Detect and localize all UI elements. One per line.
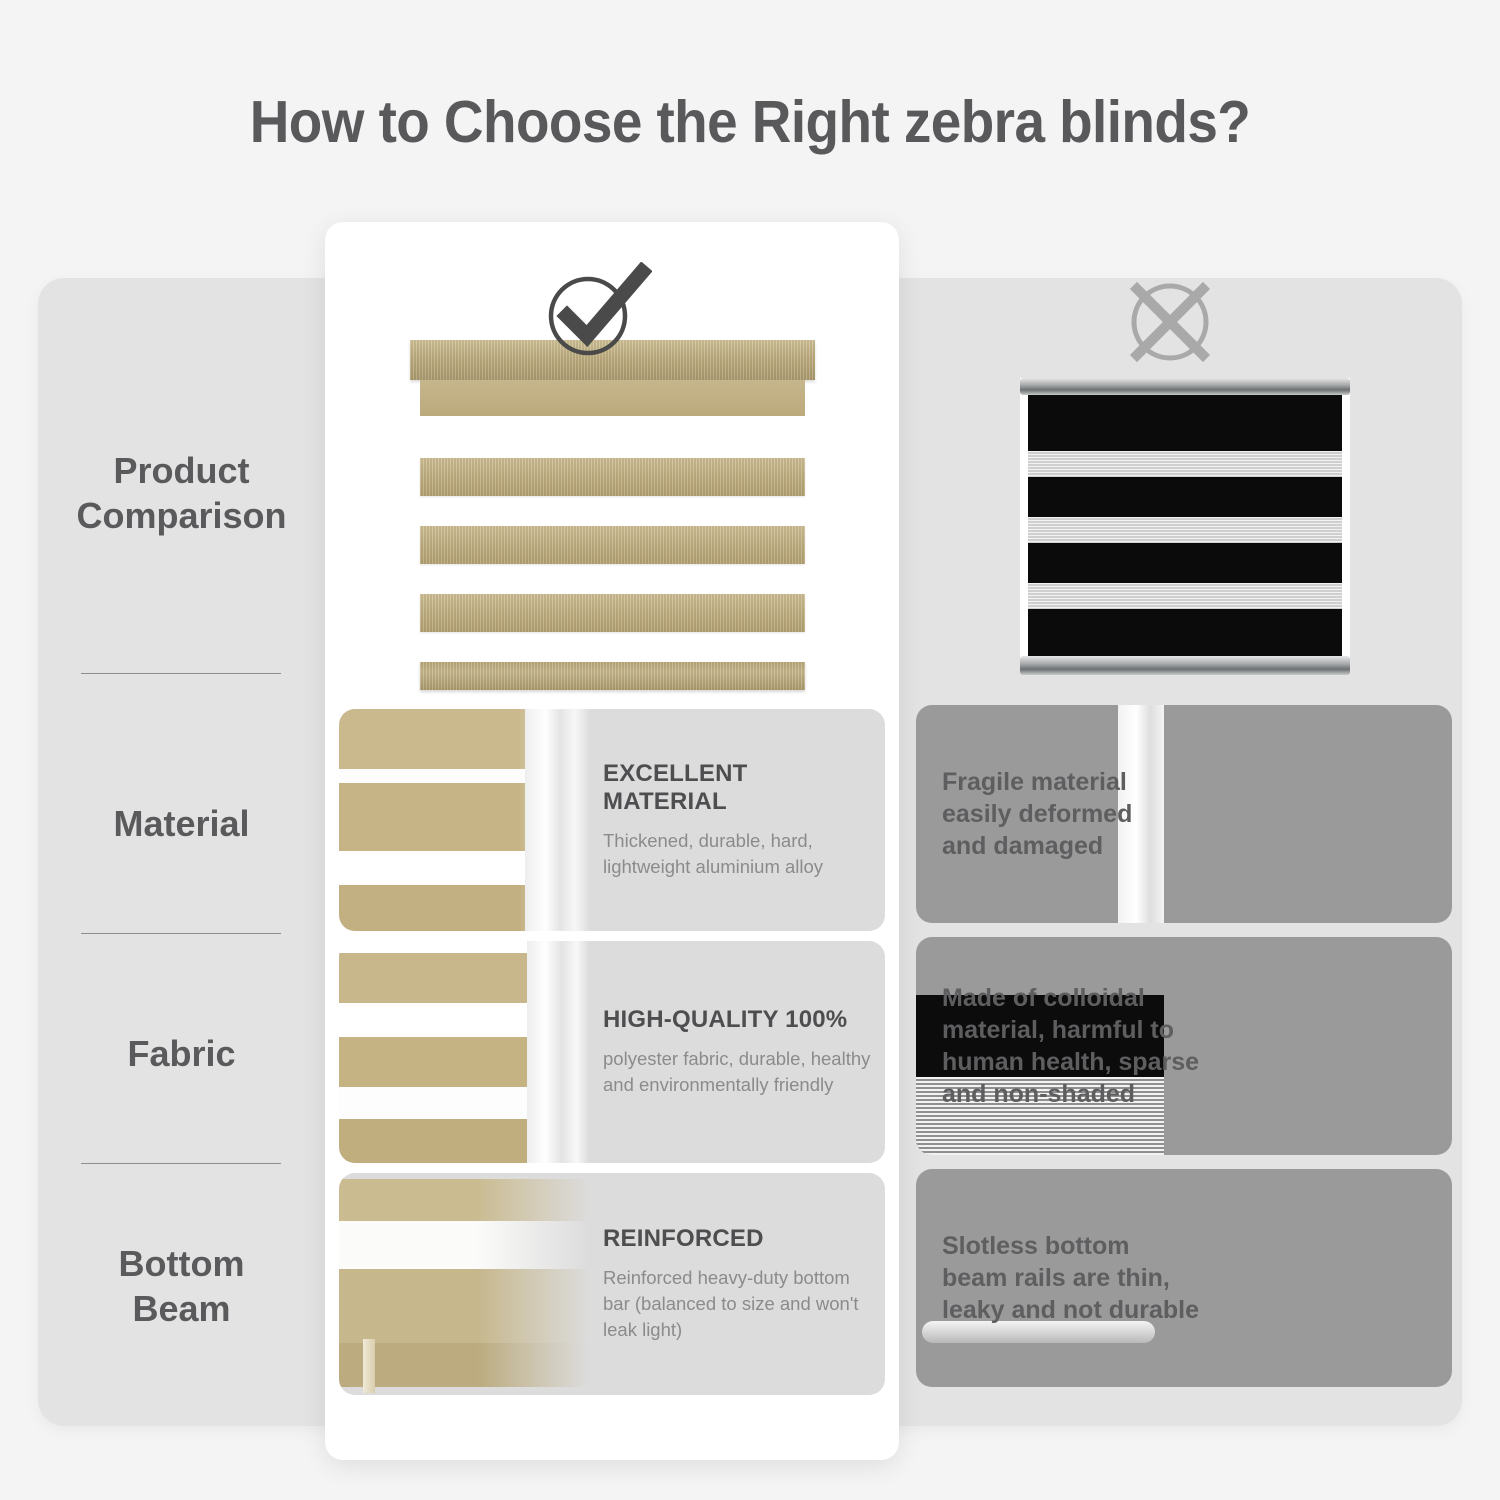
black-blind-body [1028,395,1342,656]
row-divider [81,933,281,934]
drawback-line: and damaged [942,830,1204,862]
row-label-line1: Bottom [38,1241,325,1286]
feature-body: polyester fabric, durable, healthy and e… [603,1046,871,1099]
row-label-product-comparison: Product Comparison [38,448,325,538]
drawback-line: easily deformed [942,798,1204,830]
row-label-line1: Fabric [38,1031,325,1076]
tan-blind-slat [420,526,805,564]
feature-card-material-good: EXCELLENT MATERIAL Thickened, durable, h… [339,709,885,931]
page-title: How to Choose the Right zebra blinds? [53,88,1448,156]
feature-card-fabric-bad: Made of colloidal material, harmful to h… [916,937,1452,1155]
check-circle-icon [542,262,652,358]
black-zebra-blind-hero-image [1020,378,1350,673]
feature-card-bottom-beam-good: REINFORCED Reinforced heavy-duty bottom … [339,1173,885,1395]
row-label-fabric: Fabric [38,1031,325,1076]
feature-heading: REINFORCED [603,1225,871,1253]
tan-blind-slat [420,594,805,632]
row-label-bottom-beam: Bottom Beam [38,1241,325,1331]
drawback-line: human health, sparse [942,1046,1204,1078]
feature-card-bottom-beam-bad: Slotless bottom beam rails are thin, lea… [916,1169,1452,1387]
drawback-line: leaky and not durable [942,1294,1204,1326]
tan-blind-window-photo [339,709,589,931]
row-divider [81,673,281,674]
row-label-line2: Comparison [38,493,325,538]
row-label-line1: Product [38,448,325,493]
tan-blind-bottom-bar [420,662,805,690]
row-divider [81,1163,281,1164]
drawback-line: Slotless bottom [942,1230,1204,1262]
drawback-line: Fragile material [942,766,1204,798]
recommended-product-column: EXCELLENT MATERIAL Thickened, durable, h… [325,222,899,1460]
black-blind-sheer-band [1028,451,1342,477]
row-label-line2: Beam [38,1286,325,1331]
drawback-line: and non-shaded [942,1078,1204,1110]
feature-heading: EXCELLENT MATERIAL [603,760,871,816]
tan-blind-bottom-bar-photo [339,1173,589,1395]
not-recommended-product-column: Fragile material easily deformed and dam… [906,278,1462,1426]
tan-zebra-blind-hero-image [410,340,815,690]
feature-card-fabric-good: HIGH-QUALITY 100% polyester fabric, dura… [339,941,885,1163]
feature-body: Reinforced heavy-duty bottom bar (balanc… [603,1265,871,1344]
drawback-line: Made of colloidal [942,982,1204,1014]
black-blind-bottom-bar [1020,656,1350,675]
tan-blind-slat [420,458,805,496]
black-blind-headrail [1020,378,1350,395]
row-label-line1: Material [38,801,325,846]
tan-blind-fabric-photo [339,941,589,1163]
feature-card-material-bad: Fragile material easily deformed and dam… [916,705,1452,923]
drawback-line: material, harmful to [942,1014,1204,1046]
feature-body: Thickened, durable, hard, lightweight al… [603,828,871,881]
feature-heading: HIGH-QUALITY 100% [603,1006,871,1034]
cross-circle-icon [1115,272,1225,368]
row-label-material: Material [38,801,325,846]
black-blind-sheer-band [1028,583,1342,609]
black-blind-sheer-band [1028,517,1342,543]
drawback-line: beam rails are thin, [942,1262,1204,1294]
row-label-column: Product Comparison Material Fabric Botto… [38,278,325,1426]
